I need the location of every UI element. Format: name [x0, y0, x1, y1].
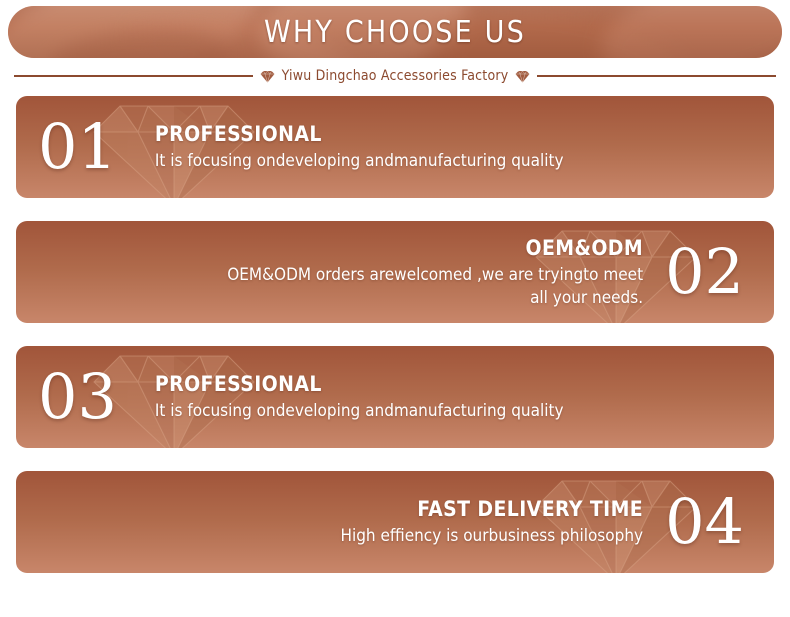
divider-line-left — [14, 75, 253, 77]
feature-panel[interactable]: OEM&ODM OEM&ODM orders arewelcomed ,we a… — [16, 221, 774, 323]
panel-number: 02 — [665, 241, 744, 303]
diamond-gem-icon — [260, 70, 275, 83]
panel-title: FAST DELIVERY TIME — [340, 496, 643, 522]
feature-panel[interactable]: FAST DELIVERY TIME High effiency is ourb… — [16, 471, 774, 573]
panel-number: 03 — [38, 366, 117, 428]
subtitle-row: Yiwu Dingchao Accessories Factory — [0, 62, 790, 90]
feature-panel-list: 01 PROFESSIONAL It is focusing ondevelop… — [0, 90, 790, 573]
feature-panel[interactable]: 03 PROFESSIONAL It is focusing ondevelop… — [16, 346, 774, 448]
panel-description: High effiency is ourbusiness philosophy — [340, 525, 643, 547]
subtitle-text: Yiwu Dingchao Accessories Factory — [282, 68, 509, 84]
panel-description: It is focusing ondeveloping andmanufactu… — [155, 400, 564, 422]
panel-title: PROFESSIONAL — [155, 121, 564, 147]
divider-line-right — [537, 75, 776, 77]
panel-title: PROFESSIONAL — [155, 371, 564, 397]
panel-description: It is focusing ondeveloping andmanufactu… — [155, 150, 564, 172]
panel-number: 01 — [38, 116, 117, 178]
header-section: WHY CHOOSE US — [0, 0, 790, 62]
panel-number: 04 — [665, 491, 744, 553]
panel-description: OEM&ODM orders arewelcomed ,we are tryin… — [227, 264, 643, 309]
header-banner: WHY CHOOSE US — [8, 6, 782, 58]
feature-panel[interactable]: 01 PROFESSIONAL It is focusing ondevelop… — [16, 96, 774, 198]
diamond-gem-icon — [515, 70, 530, 83]
page-title: WHY CHOOSE US — [8, 6, 782, 58]
panel-title: OEM&ODM — [227, 235, 643, 261]
